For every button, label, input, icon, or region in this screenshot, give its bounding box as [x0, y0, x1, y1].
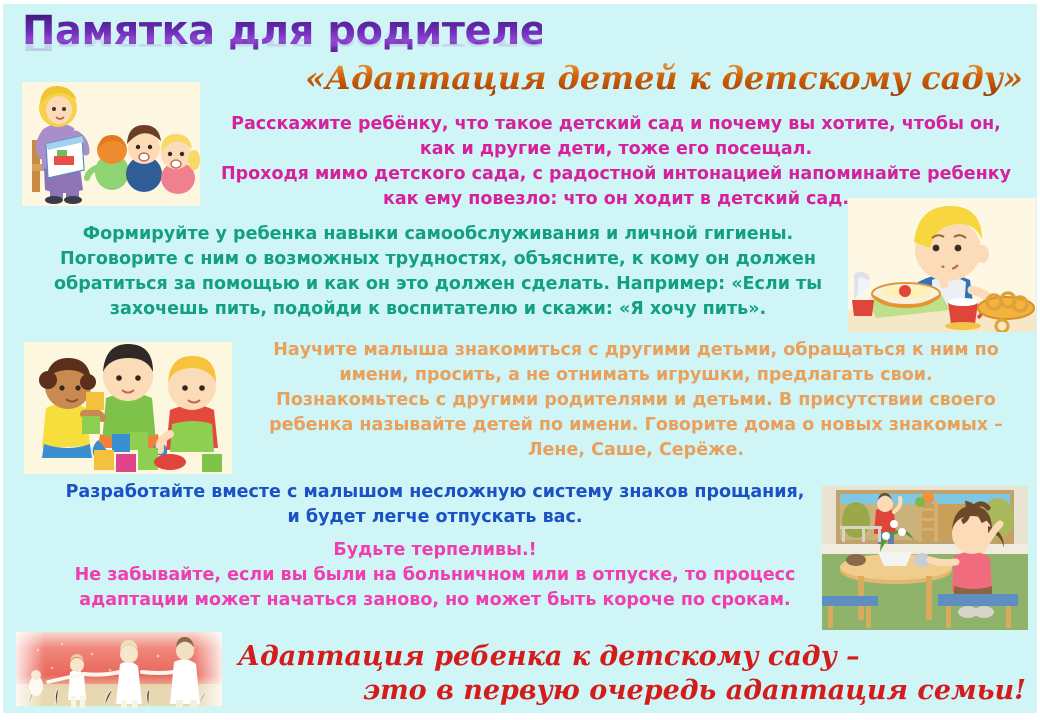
girl-waving-through-window-illustration	[822, 486, 1028, 630]
paragraph-patient: Будьте терпеливы.! Не забывайте, если вы…	[40, 538, 830, 613]
boy-eating-soup-at-table-illustration	[848, 198, 1036, 332]
closing-banner-line-2: это в первую очередь адаптация семьи!	[230, 674, 1030, 708]
paragraph-friends: Научите малыша знакомиться с другими дет…	[236, 338, 1036, 463]
poster-subtitle: «Адаптация детей к детскому саду»	[300, 60, 1028, 96]
closing-banner: Адаптация ребенка к детскому саду – это …	[230, 640, 1030, 708]
children-playing-with-blocks-illustration	[20, 338, 236, 478]
family-walking-in-poppy-field-photo	[8, 628, 230, 714]
paragraph-signs: Разработайте вместе с малышом несложную …	[40, 480, 830, 530]
paragraph-intro: Расскажите ребёнку, что такое детский са…	[196, 112, 1036, 212]
closing-banner-line-1: Адаптация ребенка к детскому саду –	[230, 640, 1030, 674]
teacher-reading-book-to-children-illustration	[16, 78, 206, 210]
poster-root: Памятка для родителей Памятка для родите…	[0, 0, 1040, 720]
paragraph-hygiene: Формируйте у ребенка навыки самообслужив…	[18, 222, 858, 322]
page-title-reflection: Памятка для родителей	[22, 30, 542, 53]
